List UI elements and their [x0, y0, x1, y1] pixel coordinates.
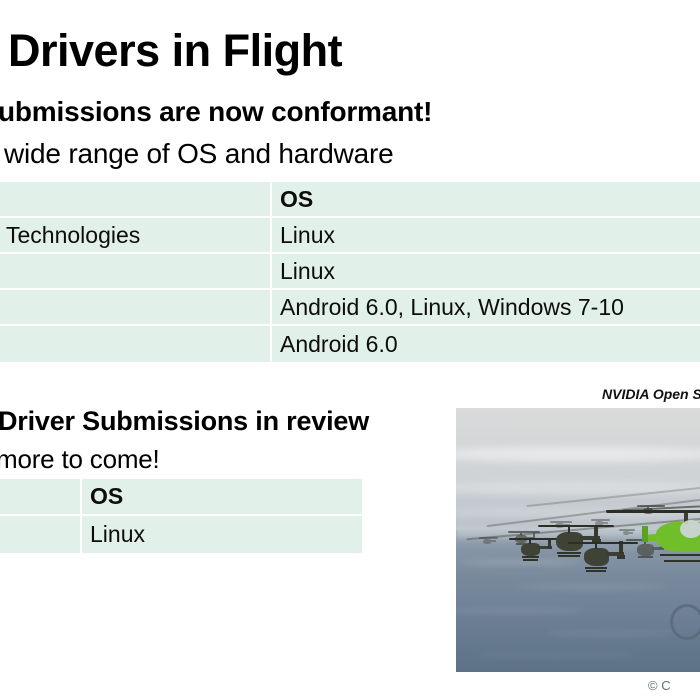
- cell-vendor: Technologies: [0, 218, 272, 254]
- bullet-conformant: ubmissions are now conformant!: [0, 96, 432, 128]
- helicopter: [622, 528, 633, 536]
- cell-vendor: [0, 290, 272, 326]
- table-row: Technologies Linux: [0, 218, 700, 254]
- wave: [546, 630, 676, 637]
- helicopter: [580, 540, 624, 572]
- cell-vendor: [0, 326, 272, 362]
- cloud-band: [456, 446, 700, 462]
- cell-vendor: [0, 516, 82, 553]
- table-row: Linux: [0, 516, 362, 553]
- bullet-os-hardware: wide range of OS and hardware: [4, 138, 394, 170]
- helicopter-fleet-image: [456, 408, 700, 672]
- table-header-row: OS: [0, 479, 362, 516]
- header-cell-os: OS: [272, 182, 700, 218]
- cell-vendor: [0, 254, 272, 290]
- cell-os: Linux: [272, 218, 700, 254]
- table-row: Linux: [0, 254, 700, 290]
- page-title: Drivers in Flight: [8, 28, 342, 73]
- cell-os: Android 6.0, Linux, Windows 7-10: [272, 290, 700, 326]
- landing-gear-wheel: [670, 604, 700, 640]
- helicopter: [518, 536, 552, 560]
- slide-canvas: Drivers in Flight ubmissions are now con…: [0, 0, 700, 700]
- header-cell-vendor: [0, 479, 82, 516]
- header-cell-os: OS: [82, 479, 362, 516]
- bullet-more-to-come: more to come!: [0, 444, 160, 475]
- header-cell-vendor: [0, 182, 272, 218]
- wave: [516, 584, 666, 590]
- bullet-in-review: Driver Submissions in review: [0, 406, 369, 437]
- table-drivers-in-review: OS Linux: [0, 479, 362, 553]
- cell-os: Linux: [82, 516, 362, 553]
- cell-os: Linux: [272, 254, 700, 290]
- wave: [460, 560, 580, 565]
- picture-caption: NVIDIA Open S: [602, 386, 700, 402]
- wave: [476, 652, 636, 659]
- cell-os: Android 6.0: [272, 326, 700, 362]
- table-conformant-drivers: OS Technologies Linux Linux Android 6.0,…: [0, 182, 700, 362]
- cockpit-glass: [680, 520, 700, 538]
- table-row: Android 6.0: [0, 326, 700, 362]
- copyright-text: © C: [648, 678, 671, 693]
- table-row: Android 6.0, Linux, Windows 7-10: [0, 290, 700, 326]
- helicopter: [482, 536, 496, 545]
- table-header-row: OS: [0, 182, 700, 218]
